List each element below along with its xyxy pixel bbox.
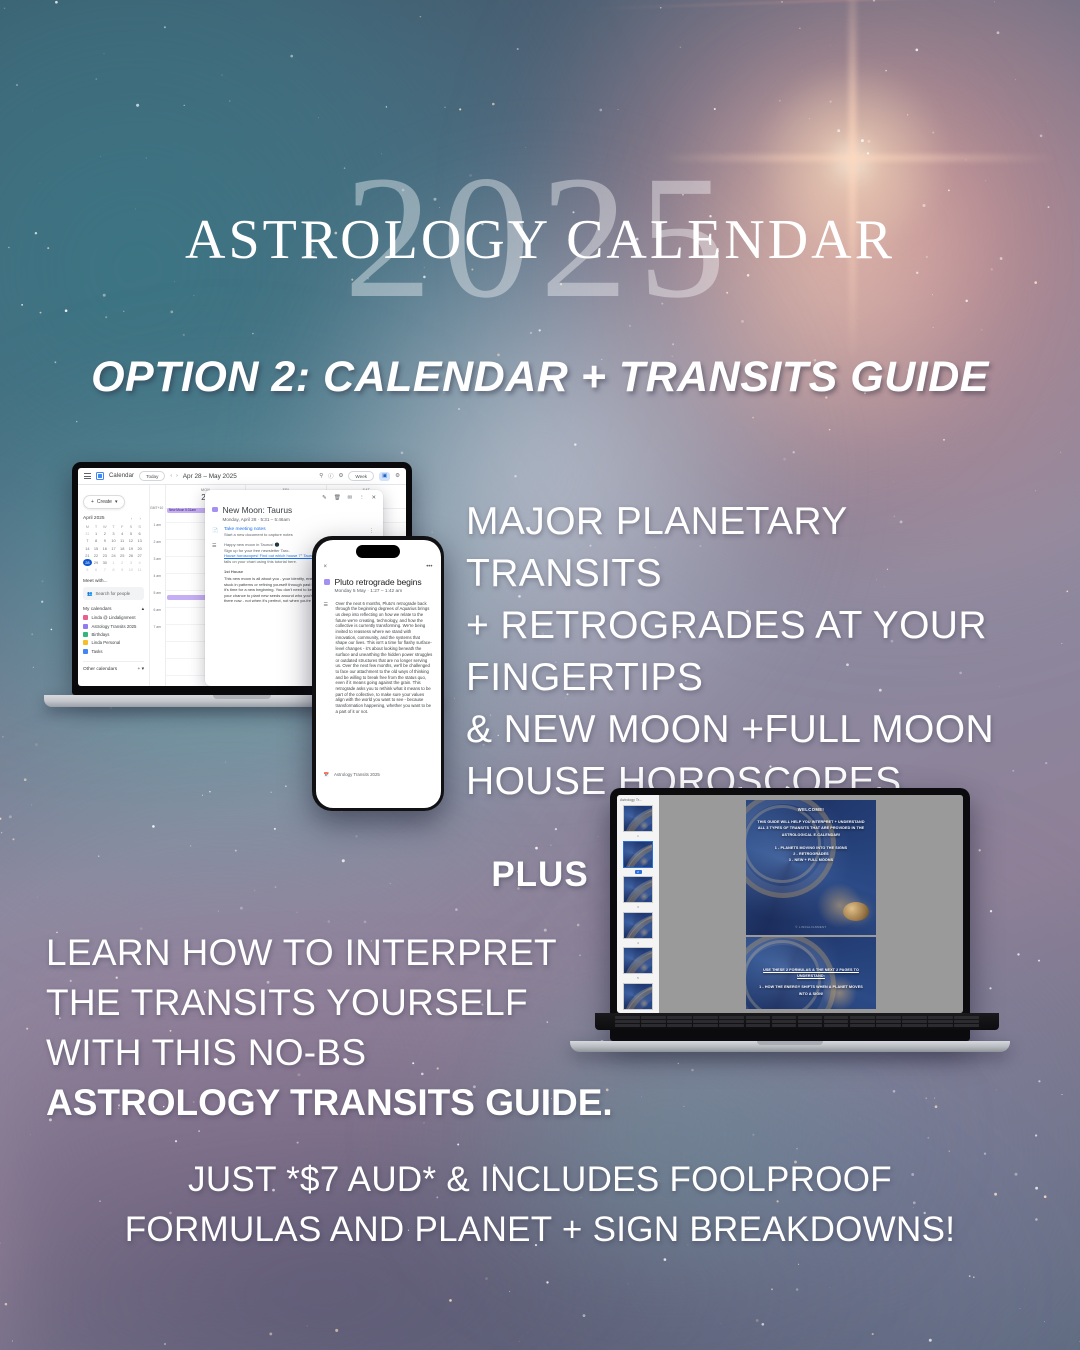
learn-line-3: WITH THIS NO-BS bbox=[46, 1028, 666, 1078]
pdf-sidebar-title: Astrology Tr... bbox=[620, 798, 656, 802]
app-name: Calendar bbox=[109, 473, 134, 479]
other-calendars-actions[interactable]: + ▾ bbox=[137, 667, 144, 672]
mini-cal-day[interactable]: 27 bbox=[135, 552, 144, 559]
time-labels: 1 am2 am3 am4 am5 am6 am7 am bbox=[150, 523, 165, 540]
mini-cal-day[interactable]: 11 bbox=[118, 537, 127, 544]
person-search-icon: 👥 bbox=[87, 591, 92, 597]
guide-name: ASTROLOGY TRANSITS GUIDE. bbox=[46, 1078, 666, 1128]
mini-cal-dow: S bbox=[127, 523, 136, 530]
mini-cal-day[interactable]: 10 bbox=[127, 566, 136, 573]
description-icon: ☰ bbox=[324, 601, 331, 715]
laptop-notch bbox=[213, 695, 271, 699]
pdf-thumbnail[interactable] bbox=[623, 876, 653, 903]
feature-line-2: + RETROGRADES AT YOUR bbox=[466, 600, 1026, 652]
description-icon: ☰ bbox=[212, 542, 219, 564]
calendar-icon: 📅 bbox=[324, 772, 329, 778]
envelope-icon[interactable]: ✉ bbox=[348, 495, 353, 501]
pdf-thumbnail-number: 1 bbox=[620, 834, 656, 838]
mini-cal-day[interactable]: 7 bbox=[100, 566, 109, 573]
pdf-paragraph: THIS GUIDE WILL HELP YOU INTERPRET + UND… bbox=[756, 819, 866, 838]
calendar-list-item[interactable]: Linda Personal bbox=[83, 640, 144, 645]
close-icon[interactable]: × bbox=[324, 564, 328, 570]
mini-cal-day[interactable]: 28 bbox=[83, 559, 92, 566]
learn-text-block: LEARN HOW TO INTERPRET THE TRANSITS YOUR… bbox=[46, 928, 666, 1128]
calendar-list-item[interactable]: Birthdays bbox=[83, 632, 144, 637]
mini-cal-day[interactable]: 1 bbox=[109, 559, 118, 566]
phone-screen: × ••• Pluto retrograde begins Monday 5 M… bbox=[316, 540, 441, 808]
learn-line-1: LEARN HOW TO INTERPRET bbox=[46, 928, 666, 978]
mini-cal-day[interactable]: 19 bbox=[127, 545, 136, 552]
time-label: 2 am bbox=[150, 540, 163, 557]
pdf-thumbnail[interactable] bbox=[623, 983, 653, 1010]
pdf-thumbnail-number: 2 bbox=[635, 870, 642, 874]
search-people-placeholder: Search for people bbox=[95, 591, 130, 596]
mini-cal-day[interactable]: 30 bbox=[100, 559, 109, 566]
phone-calendar-row: 📅 Astrology Transits 2025 bbox=[324, 772, 380, 778]
calendar-color-checkbox[interactable] bbox=[83, 624, 88, 629]
pdf-page-2-heading: USE THESE 2 FORMULAS & THE NEXT 2 PAGES … bbox=[756, 967, 866, 979]
mini-cal-day[interactable]: 23 bbox=[100, 552, 109, 559]
pdf-credit: © LINDALIGNMENT bbox=[746, 926, 876, 929]
event-datetime: Monday 5 May · 1:27 – 1:42 am bbox=[335, 589, 422, 594]
grid-view-icon[interactable]: ▣ bbox=[379, 472, 390, 481]
mini-cal-day[interactable]: 12 bbox=[127, 537, 136, 544]
mini-cal-day[interactable]: 15 bbox=[92, 545, 101, 552]
phone-mockup: × ••• Pluto retrograde begins Monday 5 M… bbox=[312, 536, 444, 811]
price-line-2: FORMULAS AND PLANET + SIGN BREAKDOWNS! bbox=[0, 1205, 1080, 1255]
chevron-left-icon[interactable]: ‹ bbox=[170, 473, 172, 479]
chevron-right-icon[interactable]: › bbox=[176, 473, 178, 479]
mini-cal-dow: F bbox=[118, 523, 127, 530]
mini-cal-day[interactable]: 13 bbox=[135, 537, 144, 544]
price-line-1: JUST *$7 AUD* & INCLUDES FOOLPROOF bbox=[0, 1155, 1080, 1205]
mini-calendar-header: April 2025 ‹ › bbox=[83, 516, 144, 521]
pdf-page-2-text: USE THESE 2 FORMULAS & THE NEXT 2 PAGES … bbox=[746, 937, 876, 1009]
calendar-list-label: Birthdays bbox=[92, 632, 110, 637]
my-calendars-list: Linda @ Lindalignment Astrology Transits… bbox=[83, 615, 144, 654]
mini-cal-day[interactable]: 20 bbox=[135, 545, 144, 552]
calendar-list-label: Astrology Transits 2025 bbox=[92, 624, 137, 629]
event-color-swatch bbox=[324, 579, 330, 585]
phone-body-text: Over the next 6 months, Pluto's retrogra… bbox=[336, 601, 433, 715]
pdf-page-1: WELCOME! THIS GUIDE WILL HELP YOU INTERP… bbox=[746, 800, 876, 935]
mini-calendar-grid[interactable]: MTWTFSS311234567891011121314151617181920… bbox=[83, 523, 144, 573]
mini-cal-day[interactable]: 10 bbox=[109, 537, 118, 544]
calendar-list-label: Tasks bbox=[92, 649, 103, 654]
document-icon: 📄 bbox=[212, 527, 219, 537]
time-label: 3 am bbox=[150, 557, 163, 574]
meet-with-label: Meet with... bbox=[83, 579, 144, 584]
mini-cal-day[interactable]: 3 bbox=[127, 559, 136, 566]
mini-cal-day[interactable]: 9 bbox=[118, 566, 127, 573]
mini-cal-dow: S bbox=[135, 523, 144, 530]
apps-icon[interactable]: ⚙ bbox=[395, 473, 400, 479]
pdf-thumbnail[interactable] bbox=[623, 947, 653, 974]
today-button[interactable]: Today bbox=[139, 471, 165, 481]
mini-cal-day[interactable]: 17 bbox=[109, 545, 118, 552]
calendar-name: Astrology Transits 2025 bbox=[334, 772, 380, 777]
mini-cal-day[interactable]: 21 bbox=[83, 552, 92, 559]
time-label: 6 am bbox=[150, 608, 163, 625]
phone-event-title-row: Pluto retrograde begins Monday 5 May · 1… bbox=[324, 577, 433, 594]
dynamic-island bbox=[356, 545, 400, 558]
page-title: ASTROLOGY CALENDAR bbox=[0, 212, 1080, 268]
mini-cal-day[interactable]: 5 bbox=[83, 566, 92, 573]
search-people-input[interactable]: 👥 Search for people bbox=[83, 587, 144, 599]
calendar-color-checkbox[interactable] bbox=[83, 649, 88, 654]
mini-calendar[interactable]: April 2025 ‹ › MTWTFSS311234567891011121… bbox=[83, 516, 144, 573]
create-label: Create bbox=[97, 499, 112, 505]
calendar-list-item[interactable]: Linda @ Lindalignment bbox=[83, 615, 144, 620]
mini-cal-day[interactable]: 5 bbox=[127, 530, 136, 537]
option-subtitle: OPTION 2: CALENDAR + TRANSITS GUIDE bbox=[0, 353, 1080, 402]
calendar-list-item[interactable]: Tasks bbox=[83, 649, 144, 654]
event-datetime: Monday, April 28 · 5:31 – 5:46am bbox=[223, 517, 293, 522]
mini-cal-dow: W bbox=[100, 523, 109, 530]
popup-toolbar[interactable]: ✎ 🗑 ✉ ⋮ ✕ bbox=[212, 495, 376, 501]
feature-line-4: & NEW MOON +FULL MOON bbox=[466, 704, 1026, 756]
mini-cal-day[interactable]: 4 bbox=[118, 530, 127, 537]
mini-cal-day[interactable]: 9 bbox=[100, 537, 109, 544]
mini-cal-day[interactable]: 8 bbox=[109, 566, 118, 573]
mini-cal-dow: T bbox=[109, 523, 118, 530]
google-calendar-logo-icon bbox=[96, 472, 104, 480]
mini-cal-day[interactable]: 4 bbox=[135, 559, 144, 566]
my-calendars-label: My calendars bbox=[83, 607, 112, 612]
mini-cal-day[interactable]: 16 bbox=[100, 545, 109, 552]
settings-gear-icon[interactable]: ⚙ bbox=[339, 473, 344, 479]
calendar-list-item[interactable]: Astrology Transits 2025 bbox=[83, 624, 144, 629]
mini-calendar-month: April 2025 bbox=[83, 516, 105, 521]
gmt-label: GMT+10 bbox=[150, 506, 165, 523]
phone-frame: × ••• Pluto retrograde begins Monday 5 M… bbox=[312, 536, 444, 811]
view-selector[interactable]: Week bbox=[348, 471, 374, 481]
mini-cal-day[interactable]: 6 bbox=[135, 530, 144, 537]
mini-cal-day[interactable]: 26 bbox=[127, 552, 136, 559]
event-title: New Moon: Taurus bbox=[223, 505, 293, 516]
mini-cal-day[interactable]: 14 bbox=[83, 545, 92, 552]
mini-cal-day[interactable]: 3 bbox=[109, 530, 118, 537]
pdf-thumbnail-list[interactable]: 1 2 3 4 5 6 bbox=[620, 805, 656, 1013]
pdf-thumbnail-number: 6 bbox=[620, 1012, 656, 1014]
laptop-keyboard bbox=[595, 1013, 999, 1030]
chevron-up-icon[interactable]: ▴ bbox=[142, 607, 144, 612]
create-button[interactable]: + Create ▾ bbox=[83, 495, 125, 509]
feature-line-3: FINGERTIPS bbox=[466, 652, 1026, 704]
mini-cal-day[interactable]: 2 bbox=[100, 530, 109, 537]
event-color-swatch bbox=[212, 507, 218, 513]
more-options-icon[interactable]: ⋮ bbox=[359, 495, 364, 501]
pdf-thumbnail-number: 5 bbox=[620, 976, 656, 980]
pdf-thumbnail[interactable] bbox=[623, 805, 653, 832]
toolbar-icons: ⚲ ⓘ ⚙ Week ▣ ⚙ bbox=[319, 471, 400, 481]
pdf-thumbnail-sidebar[interactable]: Astrology Tr... 1 2 3 4 5 bbox=[617, 795, 659, 1013]
other-calendars-label: Other calendars bbox=[83, 667, 117, 672]
laptop-lid: Astrology Tr... 1 2 3 4 5 bbox=[610, 788, 970, 1041]
pdf-item-3: 3 - NEW + FULL MOONS bbox=[756, 857, 866, 863]
search-icon[interactable]: ⚲ bbox=[319, 473, 323, 479]
mini-cal-day[interactable]: 31 bbox=[83, 530, 92, 537]
event-title: Pluto retrograde begins bbox=[335, 577, 422, 587]
pdf-thumbnail-number: 3 bbox=[620, 905, 656, 909]
time-label: 1 am bbox=[150, 523, 163, 540]
pdf-thumbnail-number: 4 bbox=[620, 941, 656, 945]
popup-title-row: New Moon: Taurus Monday, April 28 · 5:31… bbox=[212, 505, 376, 522]
trash-icon[interactable]: 🗑 bbox=[334, 495, 341, 501]
mini-cal-dow: M bbox=[83, 523, 92, 530]
calendar-color-checkbox[interactable] bbox=[83, 615, 88, 620]
calendar-color-checkbox[interactable] bbox=[83, 640, 88, 645]
mini-cal-day[interactable]: 8 bbox=[92, 537, 101, 544]
close-icon[interactable]: ✕ bbox=[371, 495, 376, 501]
feature-line-1: MAJOR PLANETARY TRANSITS bbox=[466, 496, 1026, 600]
edit-pencil-icon[interactable]: ✎ bbox=[322, 495, 327, 501]
pdf-page-1-text: WELCOME! THIS GUIDE WILL HELP YOU INTERP… bbox=[746, 800, 876, 935]
laptop-base bbox=[570, 1041, 1010, 1052]
pdf-viewer-screen: Astrology Tr... 1 2 3 4 5 bbox=[617, 795, 963, 1013]
price-text-block: JUST *$7 AUD* & INCLUDES FOOLPROOF FORMU… bbox=[0, 1155, 1080, 1255]
mini-cal-day[interactable]: 1 bbox=[92, 530, 101, 537]
more-options-icon[interactable]: ••• bbox=[426, 564, 432, 570]
pdf-thumbnail[interactable] bbox=[623, 841, 653, 868]
time-label: 4 am bbox=[150, 574, 163, 591]
help-icon[interactable]: ⓘ bbox=[328, 472, 333, 480]
mini-cal-dow: T bbox=[92, 523, 101, 530]
calendar-list-label: Linda @ Lindalignment bbox=[92, 615, 136, 620]
time-label: 7 am bbox=[150, 625, 163, 642]
calendar-sidebar: + Create ▾ April 2025 ‹ › MTWTFSS3112345… bbox=[78, 485, 150, 686]
learn-line-2: THE TRANSITS YOURSELF bbox=[46, 978, 666, 1028]
mini-cal-day[interactable]: 29 bbox=[92, 559, 101, 566]
plus-icon: + bbox=[91, 499, 94, 505]
pdf-thumbnail[interactable] bbox=[623, 912, 653, 939]
phone-event-toolbar[interactable]: × ••• bbox=[324, 564, 433, 570]
mini-cal-day[interactable]: 2 bbox=[118, 559, 127, 566]
time-label: 5 am bbox=[150, 591, 163, 608]
mini-cal-day[interactable]: 18 bbox=[118, 545, 127, 552]
time-gutter: GMT+10 1 am2 am3 am4 am5 am6 am7 am bbox=[150, 485, 165, 686]
pdf-page-area[interactable]: WELCOME! THIS GUIDE WILL HELP YOU INTERP… bbox=[659, 795, 963, 1013]
chevron-down-icon: ▾ bbox=[115, 499, 118, 505]
mini-cal-day[interactable]: 22 bbox=[92, 552, 101, 559]
mini-cal-day[interactable]: 25 bbox=[118, 552, 127, 559]
mini-cal-day[interactable]: 24 bbox=[109, 552, 118, 559]
pdf-page-2: USE THESE 2 FORMULAS & THE NEXT 2 PAGES … bbox=[746, 937, 876, 1009]
my-calendars-header[interactable]: My calendars ▴ bbox=[83, 607, 144, 612]
laptop-guide-mockup: Astrology Tr... 1 2 3 4 5 bbox=[610, 788, 970, 1052]
pdf-page-2-item-1: 1 - HOW THE ENERGY SHIFTS WHEN A PLANET … bbox=[756, 984, 866, 996]
date-range-label: Apr 28 – May 2025 bbox=[183, 473, 237, 480]
menu-icon[interactable] bbox=[84, 473, 91, 479]
pdf-heading: WELCOME! bbox=[756, 807, 866, 813]
laptop-notch bbox=[757, 1041, 823, 1045]
phone-event-description-row: ☰ Over the next 6 months, Pluto's retrog… bbox=[324, 601, 433, 715]
keyboard-keys bbox=[615, 1016, 979, 1027]
mini-cal-day[interactable]: 6 bbox=[92, 566, 101, 573]
calendar-color-checkbox[interactable] bbox=[83, 632, 88, 637]
mini-cal-day[interactable]: 11 bbox=[135, 566, 144, 573]
mini-cal-day[interactable]: 7 bbox=[83, 537, 92, 544]
mini-calendar-nav[interactable]: ‹ › bbox=[131, 516, 144, 521]
other-calendars-header[interactable]: Other calendars + ▾ bbox=[83, 661, 144, 672]
feature-text-block: MAJOR PLANETARY TRANSITS + RETROGRADES A… bbox=[466, 496, 1026, 808]
calendar-list-label: Linda Personal bbox=[92, 640, 121, 645]
date-nav-arrows[interactable]: ‹ › bbox=[170, 473, 177, 479]
calendar-toolbar: Calendar Today ‹ › Apr 28 – May 2025 ⚲ ⓘ… bbox=[78, 468, 406, 485]
